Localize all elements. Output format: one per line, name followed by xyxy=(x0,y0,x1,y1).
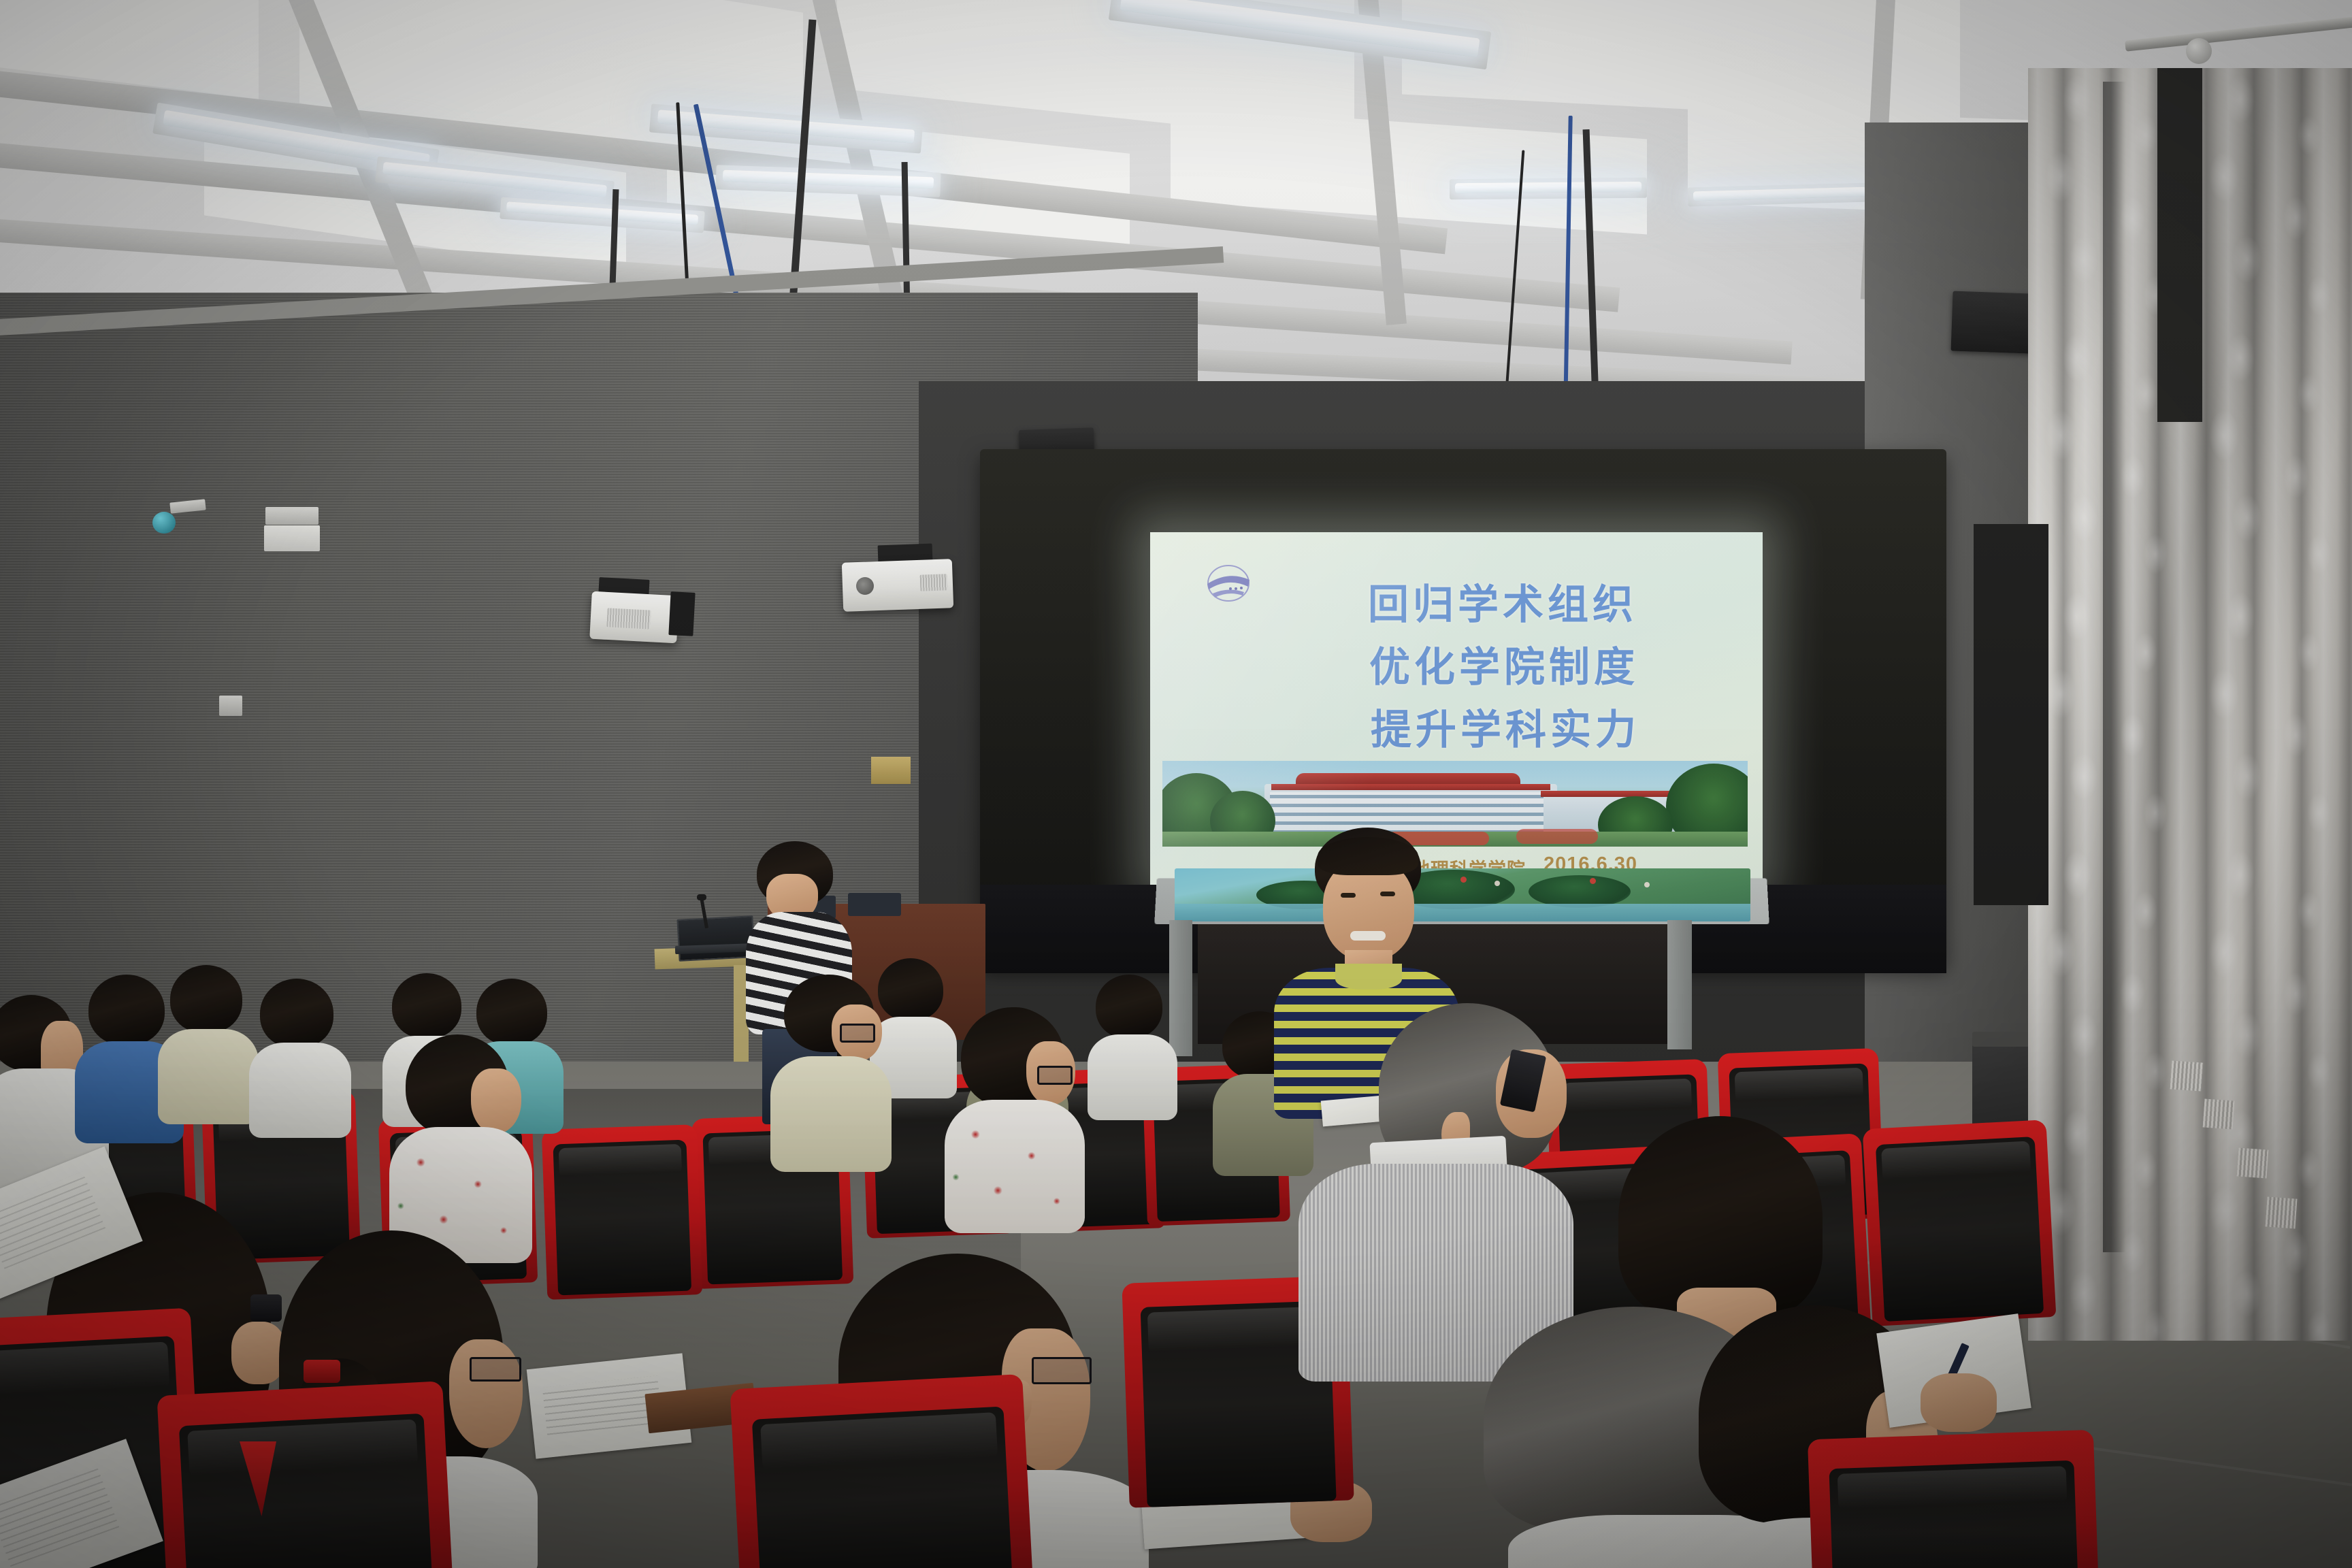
audience-torso xyxy=(158,1029,259,1124)
audience-face xyxy=(471,1068,521,1134)
model-hill xyxy=(1529,875,1631,908)
seat-foreground[interactable] xyxy=(157,1381,453,1568)
curtain-edge-dark xyxy=(2103,82,2126,1252)
audience-shirt xyxy=(770,1056,892,1172)
seat-foreground[interactable] xyxy=(1808,1430,2099,1568)
seat-row[interactable] xyxy=(542,1124,703,1300)
curtain-fringe xyxy=(2170,1060,2204,1091)
audience-face xyxy=(449,1339,523,1448)
campus-tree xyxy=(1666,764,1748,847)
model-table-leg xyxy=(1667,920,1692,1049)
curtain-fringe xyxy=(2203,1099,2235,1130)
campus-tree xyxy=(1162,773,1237,847)
campus-building-roof xyxy=(1296,773,1520,784)
wristwatch xyxy=(250,1294,282,1322)
lecture-hall-photo: 回归学术组织 优化学院制度 提升学科实力 旅游与地理科学学院 xyxy=(0,0,2352,1568)
audience-head xyxy=(88,975,165,1045)
microphone-head xyxy=(697,894,706,900)
seat-foreground[interactable] xyxy=(730,1374,1032,1568)
model-table-leg xyxy=(1169,920,1192,1056)
hair-tie xyxy=(304,1360,340,1383)
audience-shirt xyxy=(945,1100,1085,1233)
curtain-fringe xyxy=(2237,1148,2269,1179)
audience-head xyxy=(260,979,333,1048)
model-structure xyxy=(1494,881,1500,886)
university-emblem-icon xyxy=(1203,563,1254,603)
speaker-mouth xyxy=(1350,931,1386,941)
campus-building-roof xyxy=(1271,784,1550,790)
speaker-collar xyxy=(1335,964,1402,990)
window-gap xyxy=(2157,68,2202,422)
audience-member-floral xyxy=(378,1034,542,1259)
model-structure xyxy=(1590,878,1596,884)
campus-tree xyxy=(1598,796,1673,847)
eyeglasses xyxy=(840,1024,875,1043)
curtain-fringe xyxy=(2266,1197,2298,1229)
eyeglasses xyxy=(1037,1066,1073,1085)
audience-head xyxy=(392,973,461,1039)
slide-title-line-3: 提升学科实力 xyxy=(1371,697,1640,756)
projector-vent-center xyxy=(920,574,948,591)
campus-flowers xyxy=(1516,829,1598,844)
fluorescent-tube-light-7 xyxy=(1455,182,1641,193)
eyeglasses xyxy=(470,1357,521,1382)
projector-vent-left xyxy=(606,608,651,629)
audience-head xyxy=(1096,975,1162,1039)
audience-hand xyxy=(231,1322,286,1384)
slide-title-line-2: 优化学院制度 xyxy=(1369,634,1639,693)
right-wall-alcove xyxy=(1974,524,2048,905)
audience-torso xyxy=(249,1043,351,1138)
speaker-eye xyxy=(1341,893,1356,898)
speaker-hair-front xyxy=(1318,837,1418,875)
eyeglasses xyxy=(1032,1357,1092,1384)
slide-title-line-1: 回归学术组织 xyxy=(1368,572,1637,631)
audience-head xyxy=(170,965,242,1033)
campus-building-wing-roof xyxy=(1541,791,1689,797)
speaker-eye xyxy=(1380,892,1395,896)
campus-building-wing xyxy=(1543,795,1686,844)
seat-empty[interactable] xyxy=(1863,1120,2057,1326)
wall-mount-bracket xyxy=(265,507,318,525)
audience-hand xyxy=(1921,1373,1997,1432)
audience-torso xyxy=(1088,1034,1177,1120)
wall-camera-dome xyxy=(152,512,176,534)
projector-lens-shade-left xyxy=(668,591,695,636)
audience-member-glasses xyxy=(769,975,898,1165)
model-structure xyxy=(1644,882,1650,887)
wall-socket xyxy=(219,696,242,716)
wall-notice xyxy=(871,757,911,784)
wall-control-panel xyxy=(264,525,320,551)
curtain-finial xyxy=(2186,38,2212,64)
projector-lens-center xyxy=(856,577,874,595)
audience-member-ponytail xyxy=(938,1007,1094,1225)
